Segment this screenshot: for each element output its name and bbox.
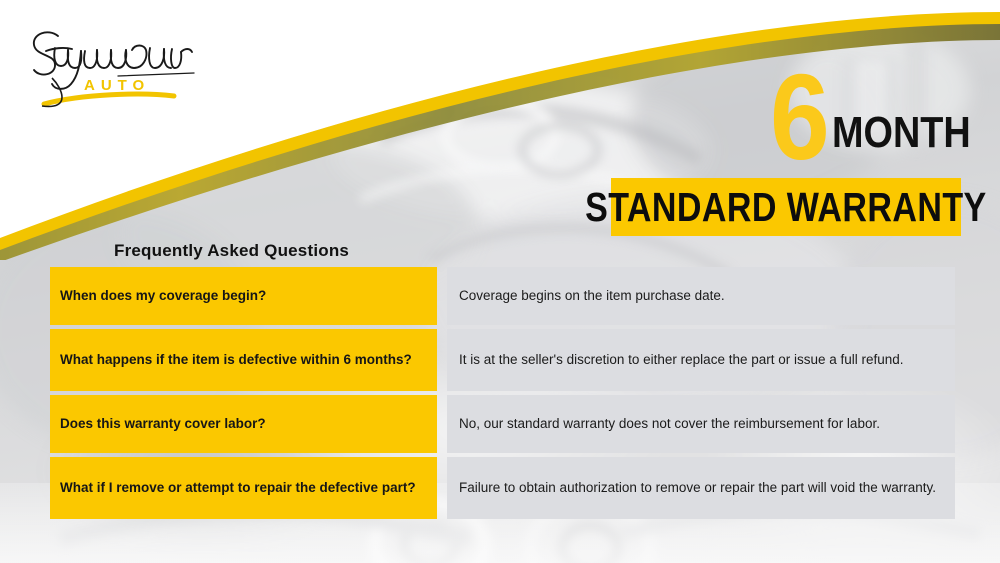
faq-answer-text: Failure to obtain authorization to remov… <box>459 479 941 498</box>
faq-table: When does my coverage begin? Coverage be… <box>50 267 955 519</box>
seymour-auto-logo: AUTO <box>22 18 202 110</box>
faq-answer-text: It is at the seller's discretion to eith… <box>459 351 941 370</box>
table-row: Does this warranty cover labor? No, our … <box>50 395 955 453</box>
warranty-slide: AUTO 6 MONTH STANDARD WARRANTY Frequentl… <box>0 0 1000 563</box>
faq-question-cell: When does my coverage begin? <box>50 267 437 325</box>
faq-question-cell: What happens if the item is defective wi… <box>50 329 437 391</box>
faq-question-cell: Does this warranty cover labor? <box>50 395 437 453</box>
svg-text:AUTO: AUTO <box>84 77 150 94</box>
faq-question-cell: What if I remove or attempt to repair th… <box>50 457 437 519</box>
faq-answer-cell: Failure to obtain authorization to remov… <box>447 457 955 519</box>
faq-question-text: Does this warranty cover labor? <box>60 415 266 433</box>
warranty-months-number: 6 <box>770 67 828 167</box>
column-gap <box>437 267 447 325</box>
column-gap <box>437 457 447 519</box>
faq-answer-text: Coverage begins on the item purchase dat… <box>459 287 941 306</box>
faq-answer-cell: It is at the seller's discretion to eith… <box>447 329 955 391</box>
table-row: When does my coverage begin? Coverage be… <box>50 267 955 325</box>
faq-question-text: What if I remove or attempt to repair th… <box>60 479 416 497</box>
faq-answer-cell: Coverage begins on the item purchase dat… <box>447 267 955 325</box>
table-row: What happens if the item is defective wi… <box>50 329 955 391</box>
column-gap <box>437 329 447 391</box>
faq-question-text: What happens if the item is defective wi… <box>60 351 412 369</box>
table-row: What if I remove or attempt to repair th… <box>50 457 955 519</box>
faq-answer-text: No, our standard warranty does not cover… <box>459 415 941 434</box>
standard-warranty-banner: STANDARD WARRANTY <box>611 178 961 236</box>
faq-answer-cell: No, our standard warranty does not cover… <box>447 395 955 453</box>
warranty-duration-headline: 6 MONTH <box>770 52 993 167</box>
column-gap <box>437 395 447 453</box>
standard-warranty-banner-label: STANDARD WARRANTY <box>585 187 987 228</box>
faq-section-title: Frequently Asked Questions <box>114 241 349 261</box>
faq-question-text: When does my coverage begin? <box>60 287 266 305</box>
warranty-months-label: MONTH <box>832 113 971 153</box>
